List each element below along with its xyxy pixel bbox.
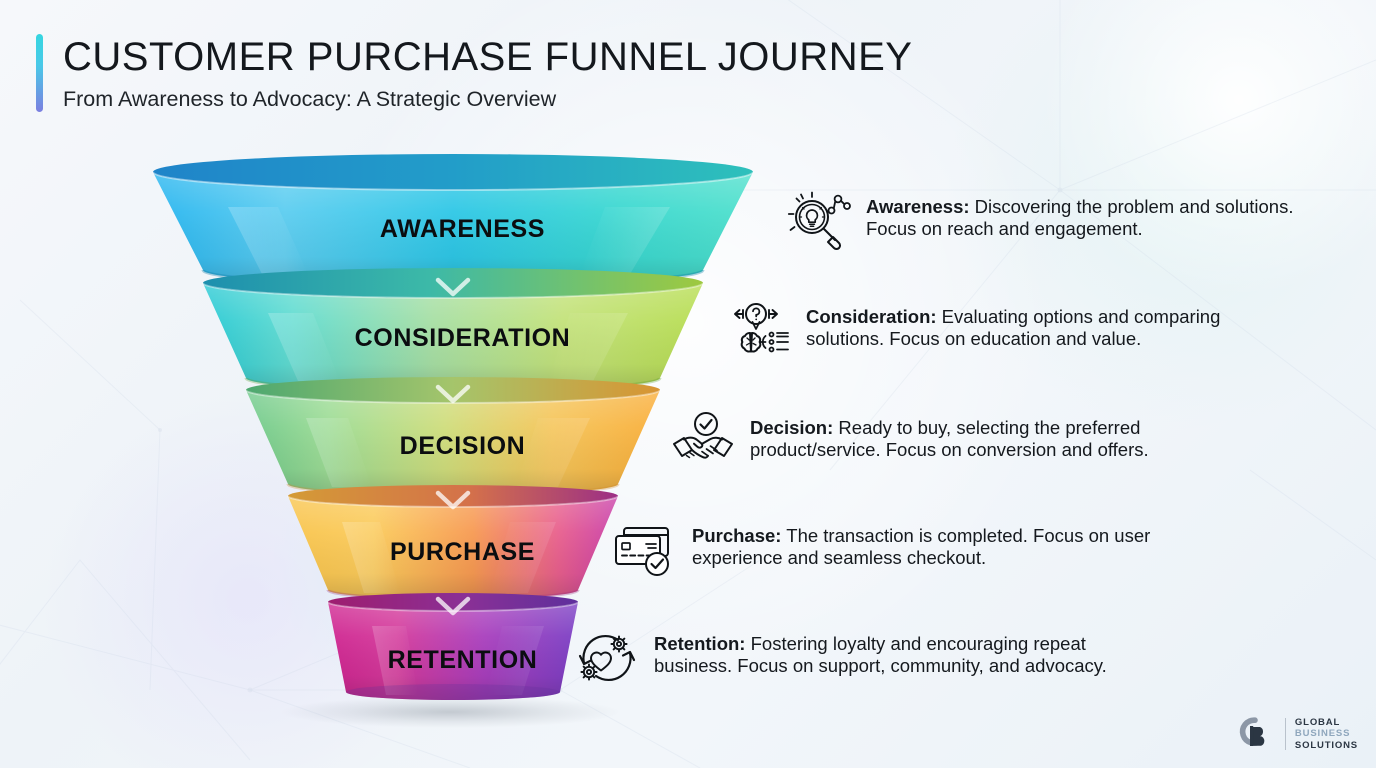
funnel-shadow	[280, 696, 620, 728]
description-item-decision: Decision: Ready to buy, selecting the pr…	[670, 411, 1220, 473]
description-text-awareness: Awareness: Discovering the problem and s…	[866, 190, 1336, 240]
funnel-stage-purchase[interactable]	[288, 485, 618, 599]
company-logo: GLOBAL BUSINESS SOLUTIONS	[1236, 716, 1358, 752]
description-lead: Consideration:	[806, 306, 937, 327]
description-text-retention: Retention: Fostering loyalty and encoura…	[654, 627, 1124, 677]
logo-text: GLOBAL BUSINESS SOLUTIONS	[1295, 717, 1358, 751]
description-lead: Retention:	[654, 633, 745, 654]
heart-gears-cycle-icon	[574, 627, 640, 689]
logo-line-solutions: SOLUTIONS	[1295, 740, 1358, 751]
page-title: CUSTOMER PURCHASE FUNNEL JOURNEY	[63, 36, 912, 79]
header: CUSTOMER PURCHASE FUNNEL JOURNEY From Aw…	[36, 34, 912, 112]
logo-line-business: BUSINESS	[1295, 728, 1358, 739]
description-item-retention: Retention: Fostering loyalty and encoura…	[574, 627, 1124, 689]
magnifier-lightbulb-share-icon	[786, 190, 852, 252]
handshake-check-icon	[670, 411, 736, 473]
logo-divider	[1285, 718, 1286, 750]
page-subtitle: From Awareness to Advocacy: A Strategic …	[63, 87, 912, 112]
description-lead: Awareness:	[866, 196, 970, 217]
funnel-stage-retention[interactable]	[328, 593, 578, 700]
gb-monogram-icon	[1236, 716, 1276, 752]
description-item-awareness: Awareness: Discovering the problem and s…	[786, 190, 1336, 252]
accent-bar	[36, 34, 43, 112]
description-item-consideration: Consideration: Evaluating options and co…	[726, 300, 1276, 362]
logo-line-global: GLOBAL	[1295, 717, 1358, 728]
description-text-purchase: Purchase: The transaction is completed. …	[692, 519, 1162, 569]
description-lead: Decision:	[750, 417, 833, 438]
description-item-purchase: Purchase: The transaction is completed. …	[612, 519, 1162, 581]
credit-card-check-icon	[612, 519, 678, 581]
description-text-decision: Decision: Ready to buy, selecting the pr…	[750, 411, 1220, 461]
funnel-stage-decision[interactable]	[246, 377, 660, 495]
funnel-stage-awareness[interactable]	[153, 154, 753, 285]
description-text-consideration: Consideration: Evaluating options and co…	[806, 300, 1276, 350]
funnel-stage-consideration[interactable]	[203, 268, 703, 391]
infographic-canvas: CUSTOMER PURCHASE FUNNEL JOURNEY From Aw…	[0, 0, 1376, 768]
description-lead: Purchase:	[692, 525, 781, 546]
brain-question-checklist-icon	[726, 300, 792, 362]
